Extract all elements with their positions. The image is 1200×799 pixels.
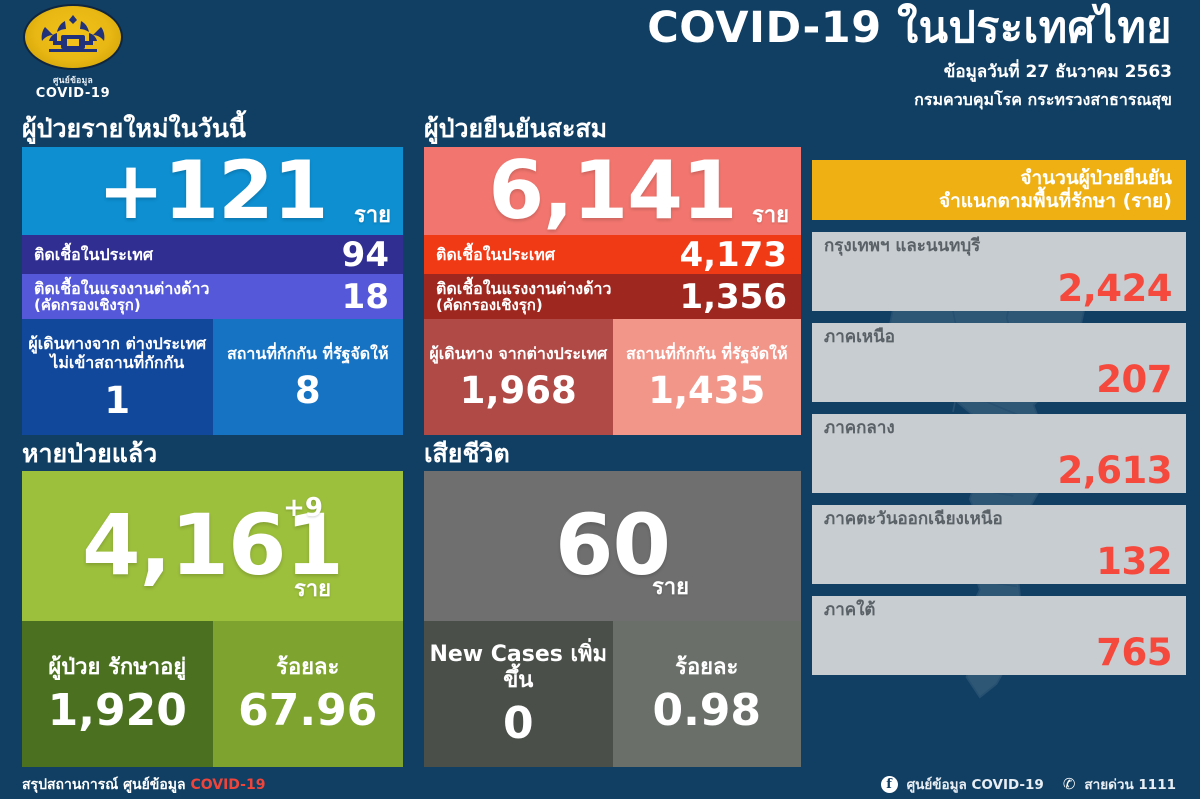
- cumulative-migrant-label: ติดเชื้อในแรงงานต่างด้าว (คัดกรองเชิงรุก…: [436, 280, 611, 313]
- deaths-new-cell: New Cases เพิ่มขึ้น 0: [424, 621, 613, 767]
- deaths-unit: ราย: [652, 577, 689, 599]
- recovered-percent-cell: ร้อยละ 67.96: [213, 621, 404, 767]
- new-cases-migrant-row: ติดเชื้อในแรงงานต่างด้าว (คัดกรองเชิงรุก…: [22, 274, 403, 319]
- footer-source-brand: COVID-19: [190, 777, 265, 793]
- infographic-page: ศูนย์ข้อมูล COVID-19 COVID-19 ในประเทศไท…: [0, 0, 1200, 799]
- page-title: COVID-19 ในประเทศไทย: [647, 6, 1172, 51]
- deaths-percent-label: ร้อยละ: [675, 655, 738, 681]
- cumulative-domestic-row: ติดเชื้อในประเทศ 4,173: [424, 235, 801, 274]
- cumulative-quarantine-value: 1,435: [648, 372, 765, 409]
- region-row: กรุงเทพฯ และนนทบุรี 2,424: [812, 232, 1186, 311]
- deaths-total: 60: [555, 506, 670, 586]
- recovered-treating-cell: ผู้ป่วย รักษาอยู่ 1,920: [22, 621, 213, 767]
- agency-name: กรมควบคุมโรค กระทรวงสาธารณสุข: [647, 88, 1172, 113]
- footer-source: สรุปสถานการณ์ ศูนย์ข้อมูล COVID-19: [22, 774, 265, 796]
- recovered-percent-label: ร้อยละ: [276, 655, 339, 681]
- cumulative-total-row: 6,141 ราย: [424, 147, 801, 235]
- new-cases-traveler-label: ผู้เดินทางจาก ต่างประเทศ ไม่เข้าสถานที่ก…: [26, 335, 209, 372]
- section-heading-deaths: เสียชีวิต: [424, 441, 510, 466]
- new-cases-domestic-value: 94: [342, 238, 389, 272]
- cumulative-total: 6,141: [488, 153, 736, 229]
- new-cases-total-row: +121 ราย: [22, 147, 403, 235]
- section-heading-cumulative: ผู้ป่วยยืนยันสะสม: [424, 116, 607, 141]
- recovered-unit: ราย: [294, 579, 331, 601]
- region-value: 2,424: [824, 270, 1172, 307]
- region-name: ภาคกลาง: [824, 420, 1172, 437]
- footer: สรุปสถานการณ์ ศูนย์ข้อมูล COVID-19 f ศูน…: [0, 767, 1200, 799]
- logo-subtitle-thai: ศูนย์ข้อมูล: [53, 73, 93, 87]
- facebook-icon[interactable]: f: [881, 776, 898, 793]
- hotline-label: สายด่วน 1111: [1084, 773, 1176, 795]
- cumulative-domestic-value: 4,173: [679, 238, 787, 272]
- data-date: ข้อมูลวันที่ 27 ธันวาคม 2563: [647, 58, 1172, 85]
- deaths-percent-value: 0.98: [652, 689, 761, 733]
- cumulative-split-row: ผู้เดินทาง จากต่างประเทศ 1,968 สถานที่กั…: [424, 319, 801, 435]
- deaths-total-row: 60 ราย: [424, 471, 801, 621]
- new-cases-migrant-value: 18: [342, 280, 389, 314]
- card-recovered: 4,161 +9 ราย ผู้ป่วย รักษาอยู่ 1,920 ร้อ…: [22, 471, 403, 767]
- region-value: 765: [824, 634, 1172, 671]
- logo-subtitle-covid: COVID-19: [36, 87, 110, 101]
- region-name: ภาคใต้: [824, 602, 1172, 619]
- section-heading-new-cases: ผู้ป่วยรายใหม่ในวันนี้: [22, 116, 246, 141]
- region-row: ภาคตะวันออกเฉียงเหนือ 132: [812, 505, 1186, 584]
- cumulative-unit: ราย: [752, 205, 789, 227]
- new-cases-quarantine-value: 8: [295, 372, 321, 409]
- region-name: กรุงเทพฯ และนนทบุรี: [824, 238, 1172, 255]
- footer-contacts: f ศูนย์ข้อมูล COVID-19 ✆ สายด่วน 1111: [881, 773, 1176, 795]
- footer-source-text: สรุปสถานการณ์ ศูนย์ข้อมูล: [22, 777, 190, 793]
- cumulative-traveler-value: 1,968: [460, 372, 577, 409]
- recovered-total-row: 4,161 +9 ราย: [22, 471, 403, 621]
- regions-panel-header-line2: จำแนกตามพื้นที่รักษา (ราย): [939, 190, 1172, 213]
- regions-panel-header: จำนวนผู้ป่วยยืนยัน จำแนกตามพื้นที่รักษา …: [812, 160, 1186, 220]
- region-name: ภาคตะวันออกเฉียงเหนือ: [824, 511, 1172, 528]
- header: ศูนย์ข้อมูล COVID-19 COVID-19 ในประเทศไท…: [0, 0, 1200, 110]
- new-cases-traveler-cell: ผู้เดินทางจาก ต่างประเทศ ไม่เข้าสถานที่ก…: [22, 319, 213, 435]
- phone-icon: ✆: [1063, 775, 1076, 793]
- region-value: 132: [824, 543, 1172, 580]
- new-cases-traveler-value: 1: [104, 382, 130, 419]
- new-cases-domestic-label: ติดเชื้อในประเทศ: [34, 246, 153, 263]
- region-row: ภาคเหนือ 207: [812, 323, 1186, 402]
- card-cumulative-cases: 6,141 ราย ติดเชื้อในประเทศ 4,173 ติดเชื้…: [424, 147, 801, 435]
- emblem-figure-icon: [35, 13, 111, 61]
- thai-government-emblem-icon: [23, 4, 123, 70]
- cumulative-traveler-label: ผู้เดินทาง จากต่างประเทศ: [429, 345, 607, 364]
- region-value: 207: [824, 361, 1172, 398]
- new-cases-quarantine-cell: สถานที่กักกัน ที่รัฐจัดให้ 8: [213, 319, 404, 435]
- regions-list: กรุงเทพฯ และนนทบุรี 2,424 ภาคเหนือ 207 ภ…: [812, 232, 1186, 675]
- new-cases-unit: ราย: [354, 205, 391, 227]
- section-heading-recovered: หายป่วยแล้ว: [22, 441, 157, 466]
- cumulative-migrant-value: 1,356: [679, 280, 787, 314]
- deaths-new-value: 0: [503, 702, 534, 746]
- region-value: 2,613: [824, 452, 1172, 489]
- new-cases-migrant-label-main: ติดเชื้อในแรงงานต่างด้าว: [34, 279, 209, 298]
- recovered-split-row: ผู้ป่วย รักษาอยู่ 1,920 ร้อยละ 67.96: [22, 621, 403, 767]
- cumulative-migrant-row: ติดเชื้อในแรงงานต่างด้าว (คัดกรองเชิงรุก…: [424, 274, 801, 319]
- recovered-treating-value: 1,920: [48, 689, 187, 733]
- cumulative-domestic-label: ติดเชื้อในประเทศ: [436, 246, 555, 263]
- deaths-split-row: New Cases เพิ่มขึ้น 0 ร้อยละ 0.98: [424, 621, 801, 767]
- new-cases-total: +121: [97, 153, 327, 229]
- cumulative-traveler-cell: ผู้เดินทาง จากต่างประเทศ 1,968: [424, 319, 613, 435]
- cumulative-quarantine-cell: สถานที่กักกัน ที่รัฐจัดให้ 1,435: [613, 319, 802, 435]
- new-cases-domestic-row: ติดเชื้อในประเทศ 94: [22, 235, 403, 274]
- regions-panel-header-line1: จำนวนผู้ป่วยยืนยัน: [1020, 167, 1172, 190]
- recovered-percent-value: 67.96: [238, 689, 377, 733]
- regions-panel: จำนวนผู้ป่วยยืนยัน จำแนกตามพื้นที่รักษา …: [812, 160, 1186, 720]
- card-deaths: 60 ราย New Cases เพิ่มขึ้น 0 ร้อยละ 0.98: [424, 471, 801, 767]
- region-row: ภาคใต้ 765: [812, 596, 1186, 675]
- new-cases-quarantine-label: สถานที่กักกัน ที่รัฐจัดให้: [227, 345, 389, 364]
- cumulative-migrant-label-main: ติดเชื้อในแรงงานต่างด้าว: [436, 279, 611, 298]
- deaths-percent-cell: ร้อยละ 0.98: [613, 621, 802, 767]
- region-name: ภาคเหนือ: [824, 329, 1172, 346]
- recovered-treating-label: ผู้ป่วย รักษาอยู่: [48, 655, 186, 681]
- new-cases-split-row: ผู้เดินทางจาก ต่างประเทศ ไม่เข้าสถานที่ก…: [22, 319, 403, 435]
- header-text-block: COVID-19 ในประเทศไทย ข้อมูลวันที่ 27 ธัน…: [647, 6, 1172, 113]
- cumulative-migrant-label-sub: (คัดกรองเชิงรุก): [436, 297, 611, 313]
- new-cases-migrant-label: ติดเชื้อในแรงงานต่างด้าว (คัดกรองเชิงรุก…: [34, 280, 209, 313]
- logo: ศูนย์ข้อมูล COVID-19: [14, 4, 132, 106]
- new-cases-migrant-label-sub: (คัดกรองเชิงรุก): [34, 297, 209, 313]
- card-new-cases: +121 ราย ติดเชื้อในประเทศ 94 ติดเชื้อในแ…: [22, 147, 403, 435]
- cumulative-quarantine-label: สถานที่กักกัน ที่รัฐจัดให้: [626, 345, 788, 364]
- deaths-new-label: New Cases เพิ่มขึ้น: [428, 642, 609, 693]
- facebook-page-label[interactable]: ศูนย์ข้อมูล COVID-19: [907, 773, 1044, 795]
- recovered-delta: +9: [283, 495, 323, 521]
- region-row: ภาคกลาง 2,613: [812, 414, 1186, 493]
